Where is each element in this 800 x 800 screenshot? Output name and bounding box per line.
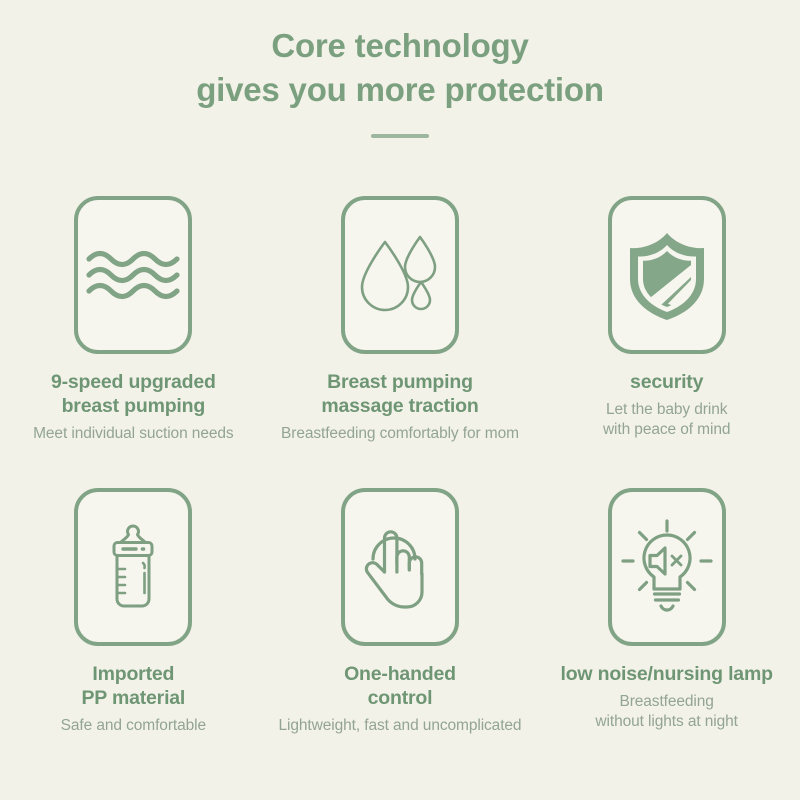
waves-icon xyxy=(83,225,183,325)
feature-title: security xyxy=(542,370,792,394)
icon-frame xyxy=(608,488,726,646)
feature-highlights-page: Core technology gives you more protectio… xyxy=(0,0,800,800)
icon-frame xyxy=(341,488,459,646)
feature-text-block: security Let the baby drink with peace o… xyxy=(542,370,792,440)
feature-caption-line-2: with peace of mind xyxy=(542,420,792,440)
feature-title-line-2: massage traction xyxy=(275,394,525,418)
feature-caption-line-1: Safe and comfortable xyxy=(8,716,258,736)
title-divider xyxy=(371,134,429,138)
feature-title: Imported PP material xyxy=(8,662,258,710)
icon-frame xyxy=(74,196,192,354)
page-title-line-2: gives you more protection xyxy=(0,68,800,112)
feature-title: 9-speed upgraded breast pumping xyxy=(8,370,258,418)
feature-caption: Breastfeeding without lights at night xyxy=(542,692,792,732)
feature-title-line-1: 9-speed upgraded xyxy=(8,370,258,394)
feature-title: Breast pumping massage traction xyxy=(275,370,525,418)
page-header: Core technology gives you more protectio… xyxy=(0,24,800,138)
feature-caption: Let the baby drink with peace of mind xyxy=(542,400,792,440)
icon-frame xyxy=(74,488,192,646)
feature-card-one-handed[interactable]: One-handed control Lightweight, fast and… xyxy=(267,488,534,736)
feature-caption-line-2: without lights at night xyxy=(542,712,792,732)
lightbulb-mute-icon xyxy=(617,517,717,617)
feature-caption-line-1: Breastfeeding comfortably for mom xyxy=(275,424,525,444)
page-title-line-1: Core technology xyxy=(0,24,800,68)
feature-text-block: low noise/nursing lamp Breastfeeding wit… xyxy=(542,662,792,732)
shield-icon xyxy=(617,225,717,325)
feature-caption-line-1: Breastfeeding xyxy=(542,692,792,712)
feature-title-line-1: Breast pumping xyxy=(275,370,525,394)
icon-frame xyxy=(608,196,726,354)
feature-title-line-2: PP material xyxy=(8,686,258,710)
feature-title-line-2: breast pumping xyxy=(8,394,258,418)
feature-card-pp-material[interactable]: Imported PP material Safe and comfortabl… xyxy=(0,488,267,736)
water-drops-icon xyxy=(350,225,450,325)
feature-title-line-1: security xyxy=(542,370,792,394)
feature-card-waves[interactable]: 9-speed upgraded breast pumping Meet ind… xyxy=(0,196,267,444)
feature-title-line-2: control xyxy=(275,686,525,710)
feature-card-low-noise-lamp[interactable]: low noise/nursing lamp Breastfeeding wit… xyxy=(533,488,800,736)
feature-text-block: 9-speed upgraded breast pumping Meet ind… xyxy=(8,370,258,444)
feature-caption-line-1: Lightweight, fast and uncomplicated xyxy=(275,716,525,736)
feature-grid: 9-speed upgraded breast pumping Meet ind… xyxy=(0,196,800,736)
feature-text-block: Imported PP material Safe and comfortabl… xyxy=(8,662,258,736)
baby-bottle-icon xyxy=(83,517,183,617)
feature-title-line-1: low noise/nursing lamp xyxy=(542,662,792,686)
feature-card-water-drops[interactable]: Breast pumping massage traction Breastfe… xyxy=(267,196,534,444)
feature-caption-line-1: Let the baby drink xyxy=(542,400,792,420)
feature-title: One-handed control xyxy=(275,662,525,710)
feature-caption: Meet individual suction needs xyxy=(8,424,258,444)
feature-title: low noise/nursing lamp xyxy=(542,662,792,686)
feature-title-line-1: Imported xyxy=(8,662,258,686)
feature-caption: Safe and comfortable xyxy=(8,716,258,736)
feature-caption: Breastfeeding comfortably for mom xyxy=(275,424,525,444)
feature-title-line-1: One-handed xyxy=(275,662,525,686)
hand-tap-icon xyxy=(350,517,450,617)
feature-card-security[interactable]: security Let the baby drink with peace o… xyxy=(533,196,800,444)
feature-caption: Lightweight, fast and uncomplicated xyxy=(275,716,525,736)
feature-caption-line-1: Meet individual suction needs xyxy=(8,424,258,444)
feature-text-block: Breast pumping massage traction Breastfe… xyxy=(275,370,525,444)
icon-frame xyxy=(341,196,459,354)
feature-text-block: One-handed control Lightweight, fast and… xyxy=(275,662,525,736)
